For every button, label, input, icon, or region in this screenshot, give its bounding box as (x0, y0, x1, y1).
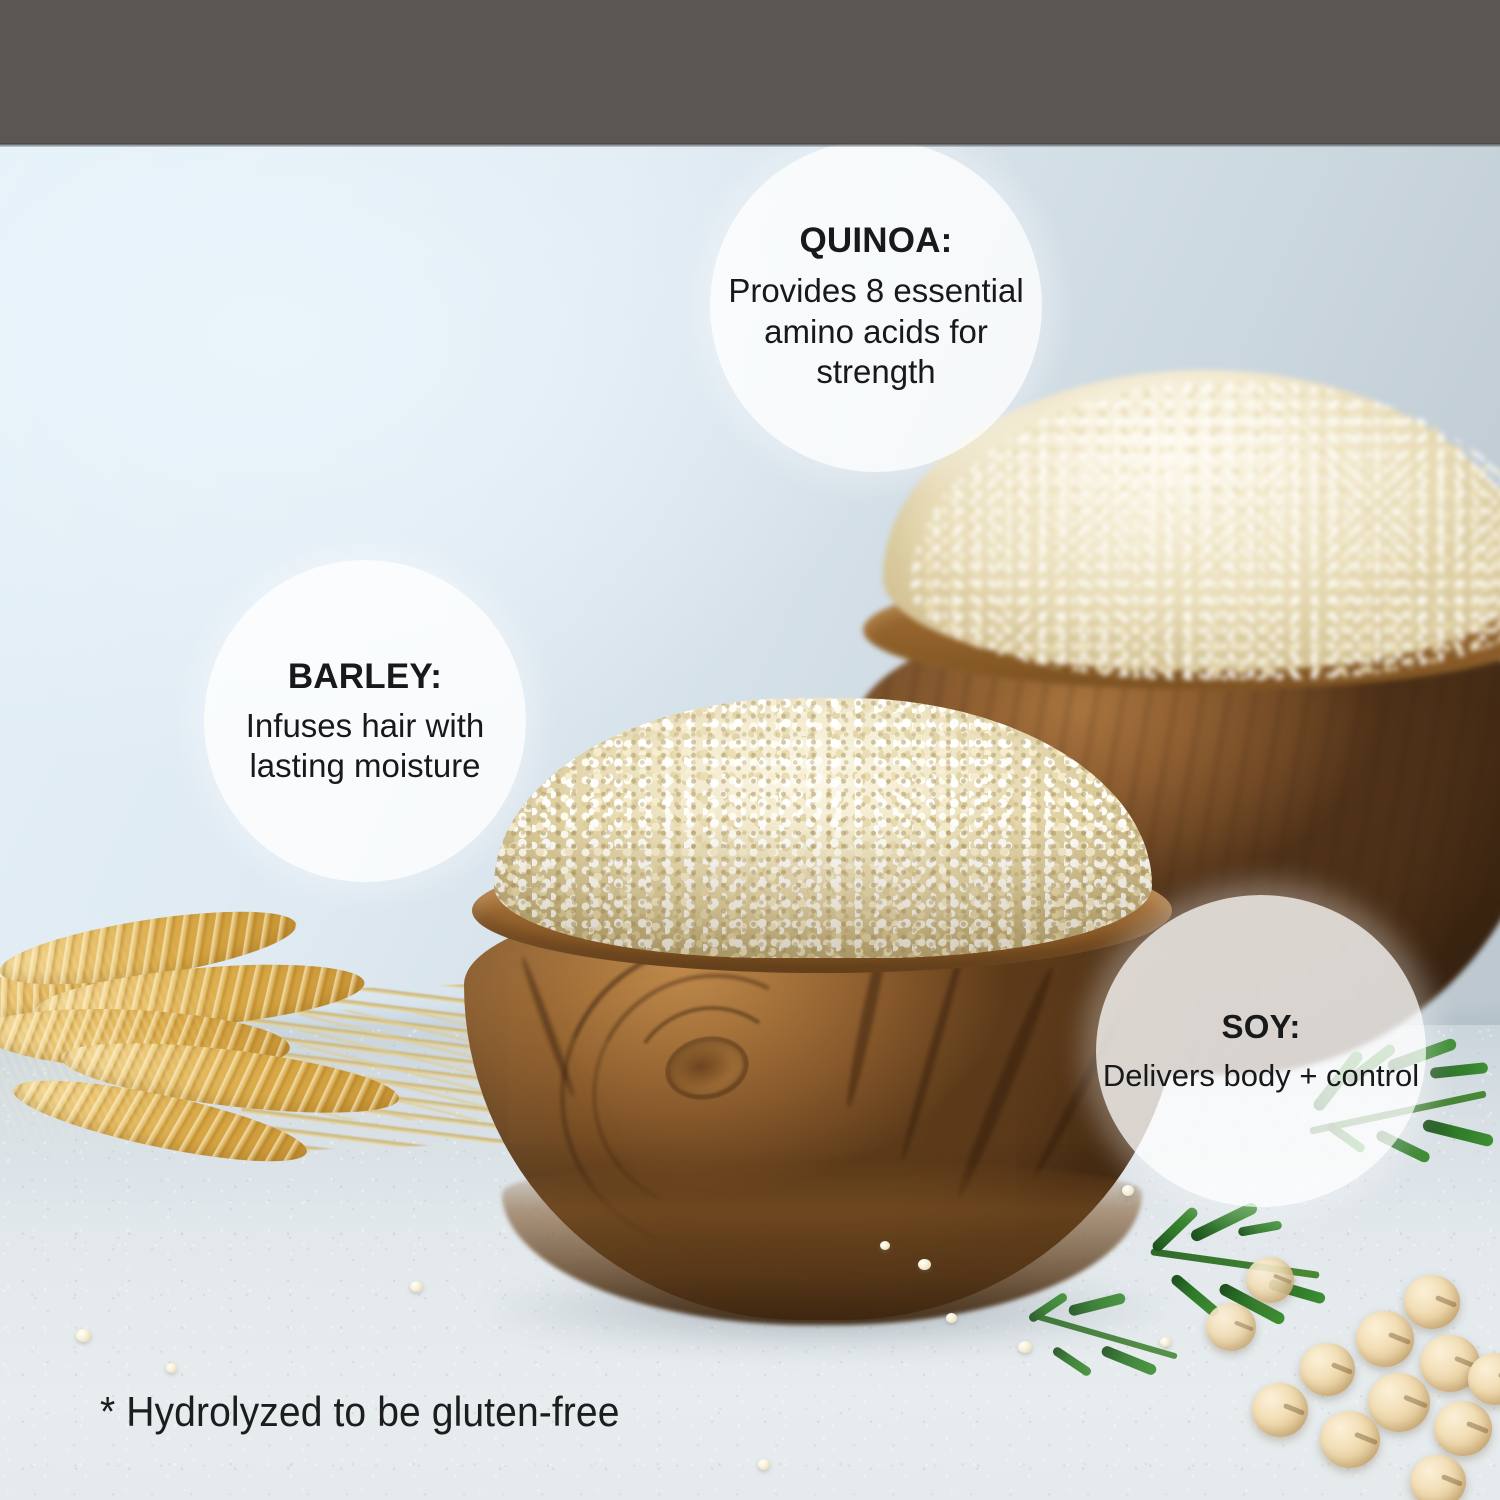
scattered-quinoa-seed (946, 1313, 957, 1323)
scattered-quinoa-seed (1160, 1337, 1171, 1347)
soybean-hilum (1403, 1395, 1428, 1409)
callout-quinoa-body: Provides 8 essential amino acids for str… (710, 271, 1042, 392)
soybean (1410, 1455, 1466, 1500)
soybean-hilum (1273, 1274, 1292, 1285)
callout-barley: BARLEY: Infuses hair with lasting moistu… (204, 560, 526, 882)
scattered-quinoa-seed (1122, 1185, 1134, 1196)
callout-barley-title: BARLEY: (288, 656, 442, 697)
soybean-hilum (1283, 1403, 1306, 1416)
soybean (1206, 1303, 1256, 1351)
soybean-hilum (1466, 1421, 1489, 1434)
soybean-hilum (1331, 1362, 1353, 1375)
scattered-quinoa-seed (76, 1329, 91, 1342)
rosemary-needle (1422, 1118, 1495, 1147)
soybean (1356, 1311, 1414, 1367)
soybean (1368, 1373, 1430, 1432)
scattered-quinoa-seed (1018, 1341, 1032, 1353)
header-bar (0, 0, 1500, 143)
wheat-awns (0, 859, 356, 1221)
soybean-hilum (1435, 1295, 1458, 1308)
back-bowl-grain-texture (911, 380, 1500, 680)
soybean (1434, 1401, 1492, 1456)
soybean-hilum (1234, 1321, 1254, 1332)
callout-soy-body: Delivers body + control (1103, 1057, 1419, 1095)
soybean-hilum (1354, 1432, 1378, 1446)
soybean-hilum (1441, 1474, 1464, 1487)
scattered-quinoa-seed (410, 1281, 423, 1292)
product-ingredient-infographic: Each product features ProQuinoa Complex™… (0, 0, 1500, 1500)
rosemary-needle (1430, 1062, 1489, 1079)
callout-quinoa-title: QUINOA: (799, 220, 952, 261)
scattered-quinoa-seed (880, 1241, 890, 1250)
front-bowl-quinoa-mound (494, 698, 1152, 958)
soybean (1252, 1383, 1308, 1437)
soybean-hilum (1388, 1331, 1411, 1344)
rosemary-needle (1068, 1292, 1127, 1317)
callout-barley-body: Infuses hair with lasting moisture (204, 706, 526, 787)
rosemary-sprig (1022, 1275, 1212, 1395)
front-bowl-grain-shading (494, 698, 1152, 958)
soybean (1300, 1343, 1355, 1396)
header-bar-divider (0, 143, 1500, 147)
rosemary-needle (1189, 1201, 1259, 1243)
footnote-text: * Hydrolyzed to be gluten-free (100, 1388, 620, 1436)
callout-quinoa: QUINOA: Provides 8 essential amino acids… (710, 140, 1042, 472)
scattered-quinoa-seed (166, 1363, 177, 1373)
scattered-quinoa-seed (918, 1259, 931, 1270)
callout-soy: SOY: Delivers body + control (1096, 895, 1426, 1207)
rosemary-needle (1238, 1220, 1283, 1237)
soybean (1320, 1411, 1380, 1468)
soybean (1246, 1257, 1294, 1303)
scattered-quinoa-seed (758, 1459, 770, 1470)
soybean (1404, 1275, 1460, 1329)
callout-soy-title: SOY: (1221, 1008, 1300, 1047)
rosemary-needle (1051, 1345, 1093, 1377)
